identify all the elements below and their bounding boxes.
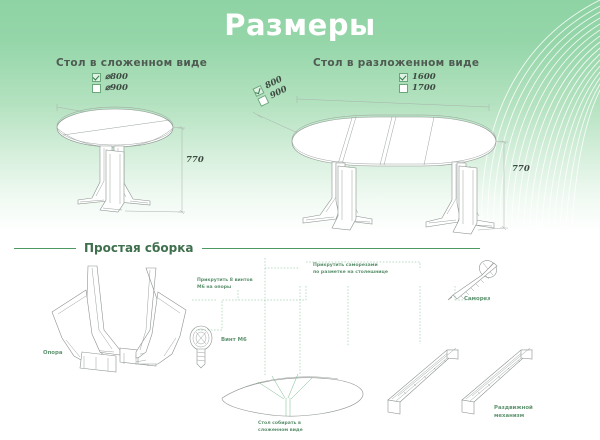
option-row[interactable]: 1600 bbox=[399, 72, 436, 82]
dimension-height-folded: 770 bbox=[186, 155, 204, 165]
option-label: 1700 bbox=[412, 83, 436, 93]
page-title: Размеры bbox=[0, 8, 600, 42]
assembly-section-header-row: Простая сборка bbox=[0, 240, 600, 256]
option-row[interactable]: ⌀800 bbox=[92, 72, 128, 82]
callout-screw-legs: Прикрутить 8 винтов М6 на опоры bbox=[197, 278, 253, 291]
option-label: 1600 bbox=[412, 72, 436, 82]
checkbox-unchecked-icon[interactable] bbox=[399, 84, 408, 93]
header-rule-right bbox=[202, 248, 481, 249]
checkbox-checked-icon[interactable] bbox=[92, 73, 101, 82]
checkbox-unchecked-icon[interactable] bbox=[92, 84, 101, 93]
option-row[interactable]: ⌀900 bbox=[92, 83, 128, 93]
instruction-sheet: Размеры Стол в сложенном виде Стол в раз… bbox=[0, 0, 600, 440]
part-label-screw: Саморез bbox=[464, 296, 490, 304]
part-label-support: Опора bbox=[43, 350, 63, 358]
dimension-height-unfolded: 770 bbox=[512, 164, 530, 174]
header-rule-left bbox=[14, 248, 76, 249]
section-header-unfolded: Стол в разложенном виде bbox=[313, 57, 479, 69]
option-row[interactable]: 1700 bbox=[399, 83, 436, 93]
part-label-bolt: Винт М6 bbox=[221, 337, 247, 345]
option-label: ⌀900 bbox=[105, 83, 128, 93]
callout-self-tapping: Прикрутить саморезами по разметке на сто… bbox=[313, 263, 388, 276]
checkbox-checked-icon[interactable] bbox=[399, 73, 408, 82]
callout-assemble-folded: Стол собирать в сложенном виде bbox=[258, 421, 303, 434]
section-header-folded: Стол в сложенном виде bbox=[56, 57, 207, 69]
part-label-slide-mechanism: Раздвижной механизм bbox=[494, 405, 533, 420]
folded-diameter-options: ⌀800 ⌀900 bbox=[92, 72, 128, 94]
unfolded-length-options: 1600 1700 bbox=[399, 72, 436, 94]
assembly-section-header: Простая сборка bbox=[76, 241, 202, 255]
option-label: ⌀800 bbox=[105, 72, 128, 82]
